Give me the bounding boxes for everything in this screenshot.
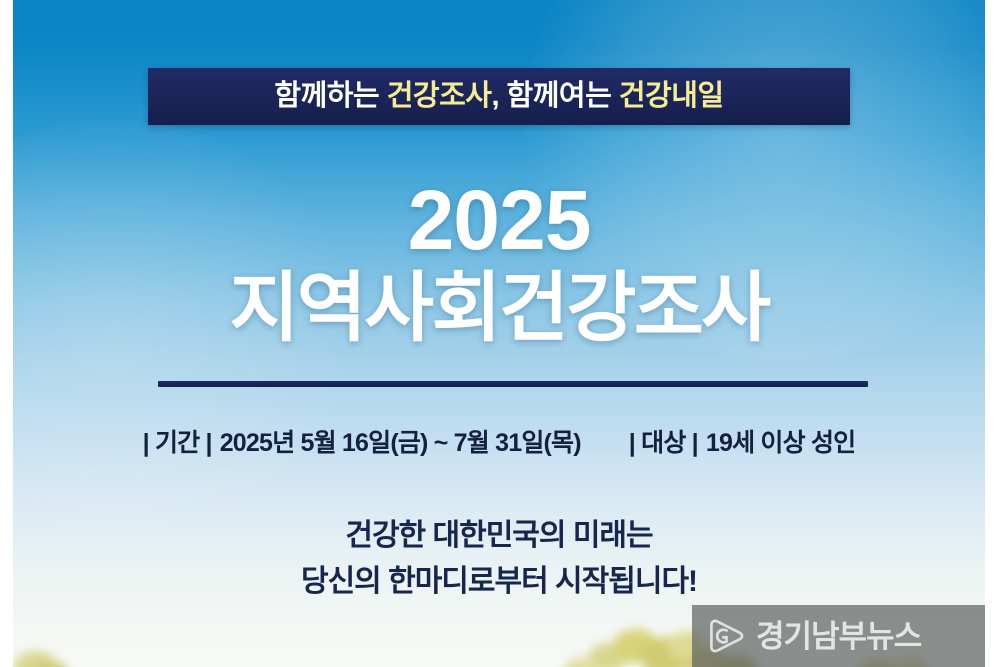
info-item-target: | 대상 |19세 이상 성인 bbox=[629, 428, 856, 458]
watermark-brand: 경기남부뉴스 bbox=[756, 621, 921, 652]
headline-year: 2025 bbox=[13, 178, 985, 262]
info-period-label: | 기간 | bbox=[143, 429, 212, 457]
info-target-label: | 대상 | bbox=[629, 429, 698, 457]
tagline-line-2: 당신의 한마디로부터 시작됩니다! bbox=[13, 559, 985, 605]
play-triangle-g-logo-icon bbox=[706, 616, 746, 656]
info-row: | 기간 |2025년 5월 16일(금) ~ 7월 31일(목) | 대상 |… bbox=[13, 428, 985, 458]
headline-subject: 지역사회건강조사 bbox=[13, 268, 985, 350]
foliage-leaf bbox=[31, 661, 71, 667]
foliage-leaf bbox=[564, 657, 598, 667]
banner-segment-2-highlight: 건강조사 bbox=[387, 80, 492, 112]
banner-text: 함께하는 건강조사, 함께여는 건강내일 bbox=[274, 82, 723, 111]
page-title: 2025 지역사회건강조사 bbox=[13, 178, 985, 350]
foliage-leaf bbox=[641, 637, 693, 667]
watermark: 경기남부뉴스 bbox=[692, 605, 985, 667]
banner-segment-3: , 함께여는 bbox=[491, 80, 618, 112]
info-target-value: 19세 이상 성인 bbox=[706, 429, 856, 457]
divider bbox=[158, 381, 868, 387]
tagline-banner: 함께하는 건강조사, 함께여는 건강내일 bbox=[148, 68, 850, 125]
banner-segment-4-highlight: 건강내일 bbox=[619, 80, 724, 112]
info-period-value: 2025년 5월 16일(금) ~ 7월 31일(목) bbox=[220, 429, 581, 457]
foliage-leaf bbox=[13, 651, 59, 667]
tagline-line-1: 건강한 대한민국의 미래는 bbox=[13, 513, 985, 559]
info-item-period: | 기간 |2025년 5월 16일(금) ~ 7월 31일(목) bbox=[143, 428, 581, 458]
banner-segment-1: 함께하는 bbox=[274, 80, 386, 112]
foliage-leaf bbox=[588, 643, 626, 667]
poster-frame: 함께하는 건강조사, 함께여는 건강내일 2025 지역사회건강조사 | 기간 … bbox=[0, 0, 1000, 667]
closing-tagline: 건강한 대한민국의 미래는 당신의 한마디로부터 시작됩니다! bbox=[13, 513, 985, 604]
foliage-leaf bbox=[613, 629, 659, 663]
poster-canvas: 함께하는 건강조사, 함께여는 건강내일 2025 지역사회건강조사 | 기간 … bbox=[13, 0, 985, 667]
